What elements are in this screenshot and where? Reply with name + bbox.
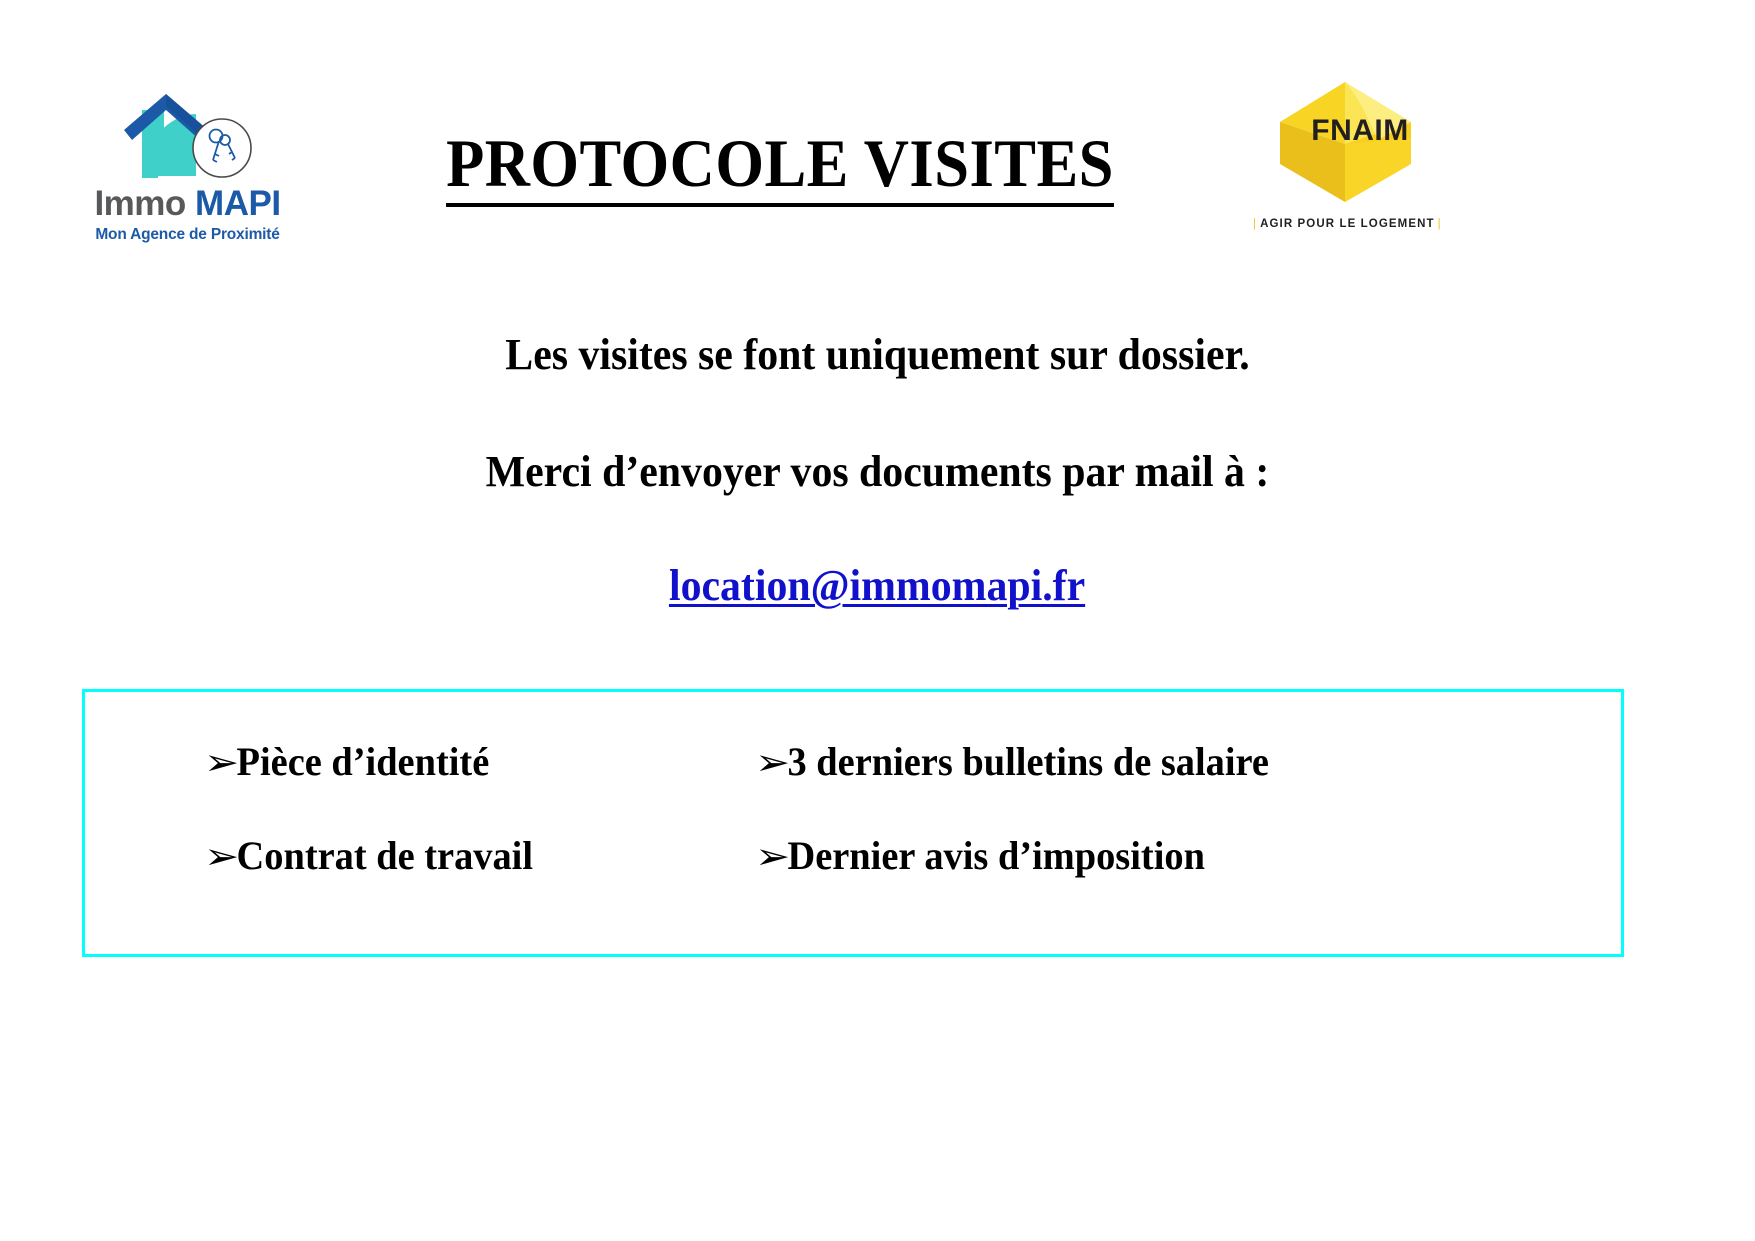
body-text-block: Les visites se font uniquement sur dossi… — [0, 330, 1755, 612]
arrow-bullet-icon: ➢ — [755, 838, 790, 874]
list-item: ➢ Dernier avis d’imposition — [755, 832, 1586, 880]
required-documents-list: ➢ Pièce d’identité ➢ 3 derniers bulletin… — [85, 738, 1621, 880]
list-item-label: Dernier avis d’imposition — [787, 832, 1204, 880]
body-line-1: Les visites se font uniquement sur dossi… — [44, 330, 1711, 381]
house-key-icon — [80, 88, 295, 193]
immo-mapi-wordmark: Immo MAPI — [80, 186, 295, 221]
required-documents-box: ➢ Pièce d’identité ➢ 3 derniers bulletin… — [82, 689, 1624, 957]
list-item: ➢ 3 derniers bulletins de salaire — [755, 738, 1586, 786]
list-item-label: 3 derniers bulletins de salaire — [787, 738, 1268, 786]
svg-text:FNAIM: FNAIM — [1311, 114, 1408, 147]
immo-mapi-logo: Immo MAPI Mon Agence de Proximité — [80, 88, 295, 248]
body-line-2: Merci d’envoyer vos documents par mail à… — [44, 447, 1711, 498]
document-page: { "header": { "agency_logo": { "name": "… — [0, 0, 1755, 1241]
arrow-bullet-icon: ➢ — [204, 838, 239, 874]
list-item-label: Pièce d’identité — [237, 738, 490, 786]
fnaim-tagline-bar-left: | — [1250, 218, 1260, 230]
wordmark-mapi: MAPI — [195, 184, 281, 223]
immo-mapi-tagline: Mon Agence de Proximité — [80, 226, 295, 244]
wordmark-immo: Immo — [94, 184, 185, 223]
fnaim-tagline-text: AGIR POUR LE LOGEMENT — [1260, 218, 1435, 230]
email-link[interactable]: location@immomapi.fr — [669, 561, 1085, 612]
fnaim-tagline-bar-right: | — [1435, 218, 1445, 230]
arrow-bullet-icon: ➢ — [204, 744, 239, 780]
page-title-text: PROTOCOLE VISITES — [446, 125, 1114, 207]
document-header: Immo MAPI Mon Agence de Proximité PROTOC… — [0, 0, 1755, 275]
list-item: ➢ Pièce d’identité — [85, 738, 728, 786]
list-item-label: Contrat de travail — [237, 832, 533, 880]
fnaim-cube-icon: FNAIM — [1268, 78, 1423, 206]
page-title: PROTOCOLE VISITES — [403, 128, 1157, 199]
list-item: ➢ Contrat de travail — [85, 832, 728, 880]
fnaim-tagline: |AGIR POUR LE LOGEMENT| — [1250, 218, 1440, 230]
arrow-bullet-icon: ➢ — [755, 744, 790, 780]
fnaim-logo: FNAIM |AGIR POUR LE LOGEMENT| — [1250, 78, 1440, 248]
